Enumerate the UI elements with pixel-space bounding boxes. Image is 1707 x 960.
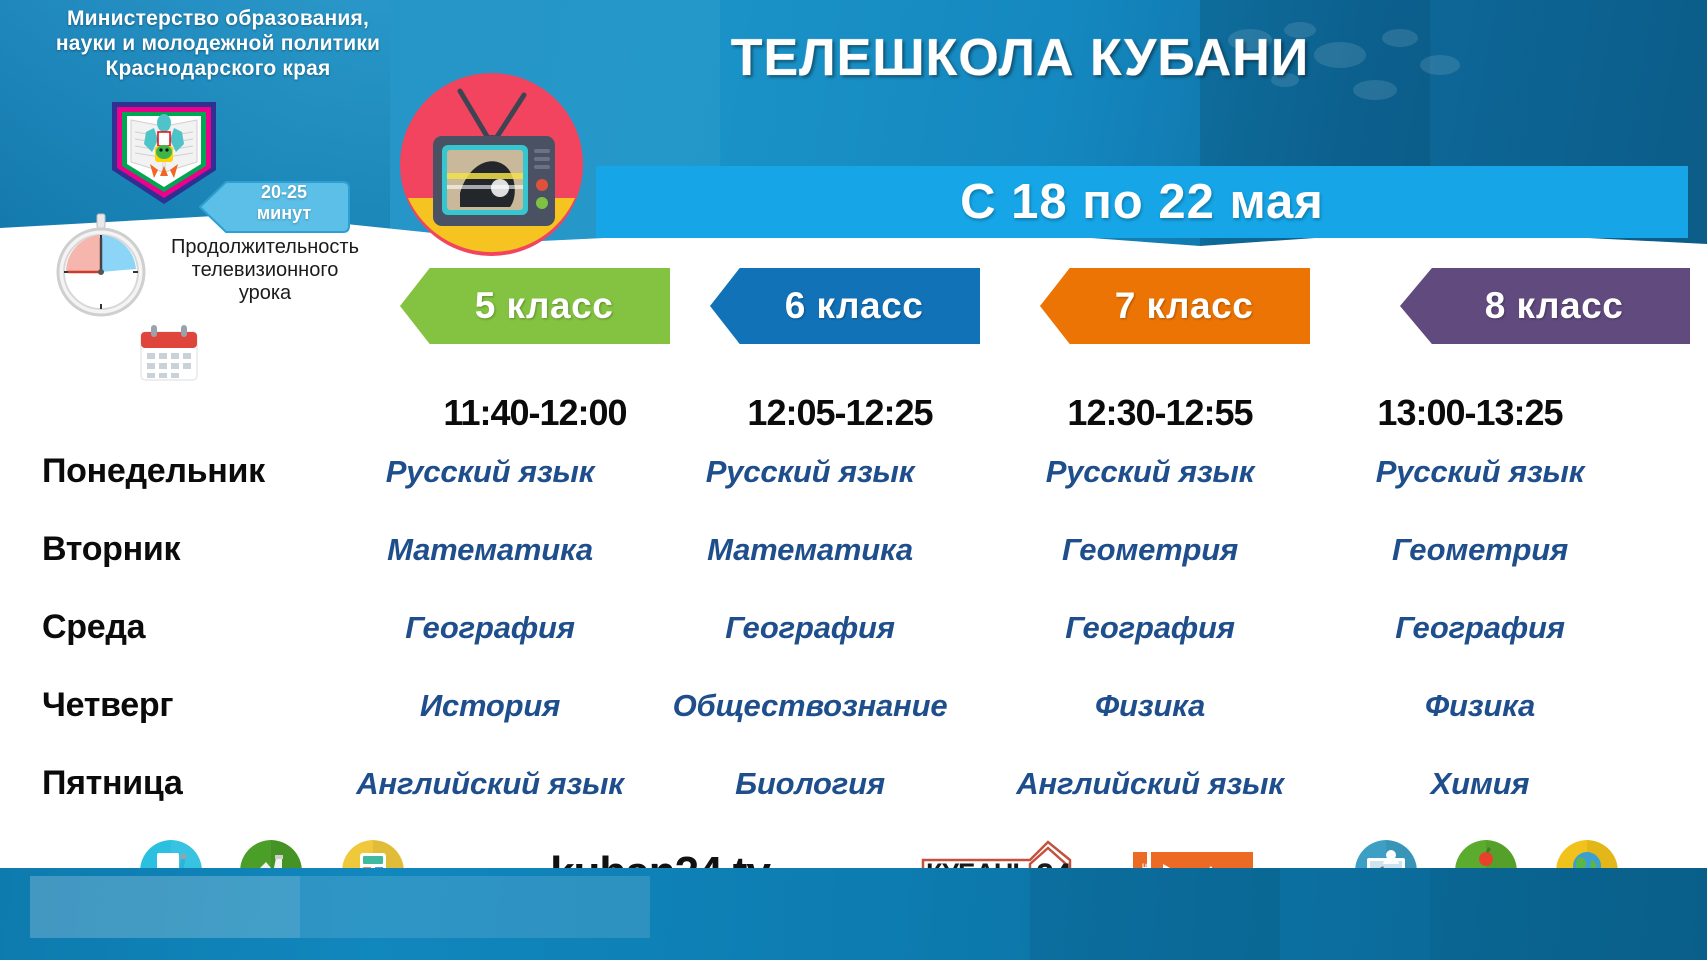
time-slot-5: 11:40-12:00 [395,392,675,434]
subject-wed-6: География [660,610,960,646]
subject-wed-5: География [340,610,640,646]
time-slot-6: 12:05-12:25 [700,392,980,434]
day-label-friday: Пятница [42,764,342,803]
grade-label-8: 8 класс [1467,285,1624,327]
subject-tue-6: Математика [660,532,960,568]
subject-tue-8: Геометрия [1330,532,1630,568]
subject-thu-6: Обществознание [645,688,975,724]
subject-thu-7: Физика [1000,688,1300,724]
table-row: Среда География География География Геог… [0,602,1707,680]
subject-mon-7: Русский язык [1000,454,1300,490]
table-row: Четверг История Обществознание Физика Фи… [0,680,1707,758]
duration-badge-text: 20-25 минут [224,182,344,224]
schedule-table: Понедельник Русский язык Русский язык Ру… [0,446,1707,836]
grade-header-8[interactable]: 8 класс [1400,268,1690,344]
time-slot-8: 13:00-13:25 [1330,392,1610,434]
subject-wed-7: География [1000,610,1300,646]
duration-label-line-1: Продолжительность [140,236,390,259]
grade-headers-row: 5 класс 6 класс 7 класс 8 класс [0,268,1707,348]
subject-tue-7: Геометрия [1000,532,1300,568]
subject-thu-8: Физика [1330,688,1630,724]
day-label-tuesday: Вторник [42,530,342,569]
grade-header-5[interactable]: 5 класс [400,268,670,344]
subject-mon-6: Русский язык [660,454,960,490]
date-range-text: С 18 по 22 мая [960,174,1324,230]
subject-wed-8: География [1330,610,1630,646]
page-title: ТЕЛЕШКОЛА КУБАНИ [520,28,1520,88]
day-label-thursday: Четверг [42,686,342,725]
time-slot-7: 12:30-12:55 [1020,392,1300,434]
bottom-bar-panel-4 [1430,868,1707,960]
table-row: Вторник Математика Математика Геометрия … [0,524,1707,602]
subject-mon-5: Русский язык [340,454,640,490]
subject-fri-7: Английский язык [990,766,1310,802]
day-label-monday: Понедельник [42,452,342,491]
table-row: Понедельник Русский язык Русский язык Ру… [0,446,1707,524]
grade-header-6[interactable]: 6 класс [710,268,980,344]
subject-tue-5: Математика [340,532,640,568]
grade-header-7[interactable]: 7 класс [1040,268,1310,344]
ministry-line-2: науки и молодежной политики [18,31,418,56]
subject-mon-8: Русский язык [1330,454,1630,490]
date-range-banner: С 18 по 22 мая [596,166,1688,238]
grade-label-6: 6 класс [767,285,924,327]
ministry-line-3: Краснодарского края [18,56,418,81]
grade-label-5: 5 класс [457,285,614,327]
grade-label-7: 7 класс [1097,285,1254,327]
bottom-bar-panel-2 [30,876,300,938]
time-slots-row: 11:40-12:00 12:05-12:25 12:30-12:55 13:0… [0,392,1707,436]
table-row: Пятница Английский язык Биология Английс… [0,758,1707,836]
subject-thu-5: История [340,688,640,724]
subject-fri-6: Биология [660,766,960,802]
subject-fri-5: Английский язык [330,766,650,802]
footer-bottom-bar [0,868,1707,960]
ministry-title: Министерство образования, науки и молоде… [18,6,418,81]
ministry-line-1: Министерство образования, [18,6,418,31]
teleschool-schedule-poster: Министерство образования, науки и молоде… [0,0,1707,960]
bottom-bar-panel-3 [1030,868,1280,960]
day-label-wednesday: Среда [42,608,342,647]
duration-badge-line-2: минут [224,203,344,224]
tv-set-icon [400,73,583,256]
subject-fri-8: Химия [1330,766,1630,802]
duration-badge-line-1: 20-25 [224,182,344,203]
